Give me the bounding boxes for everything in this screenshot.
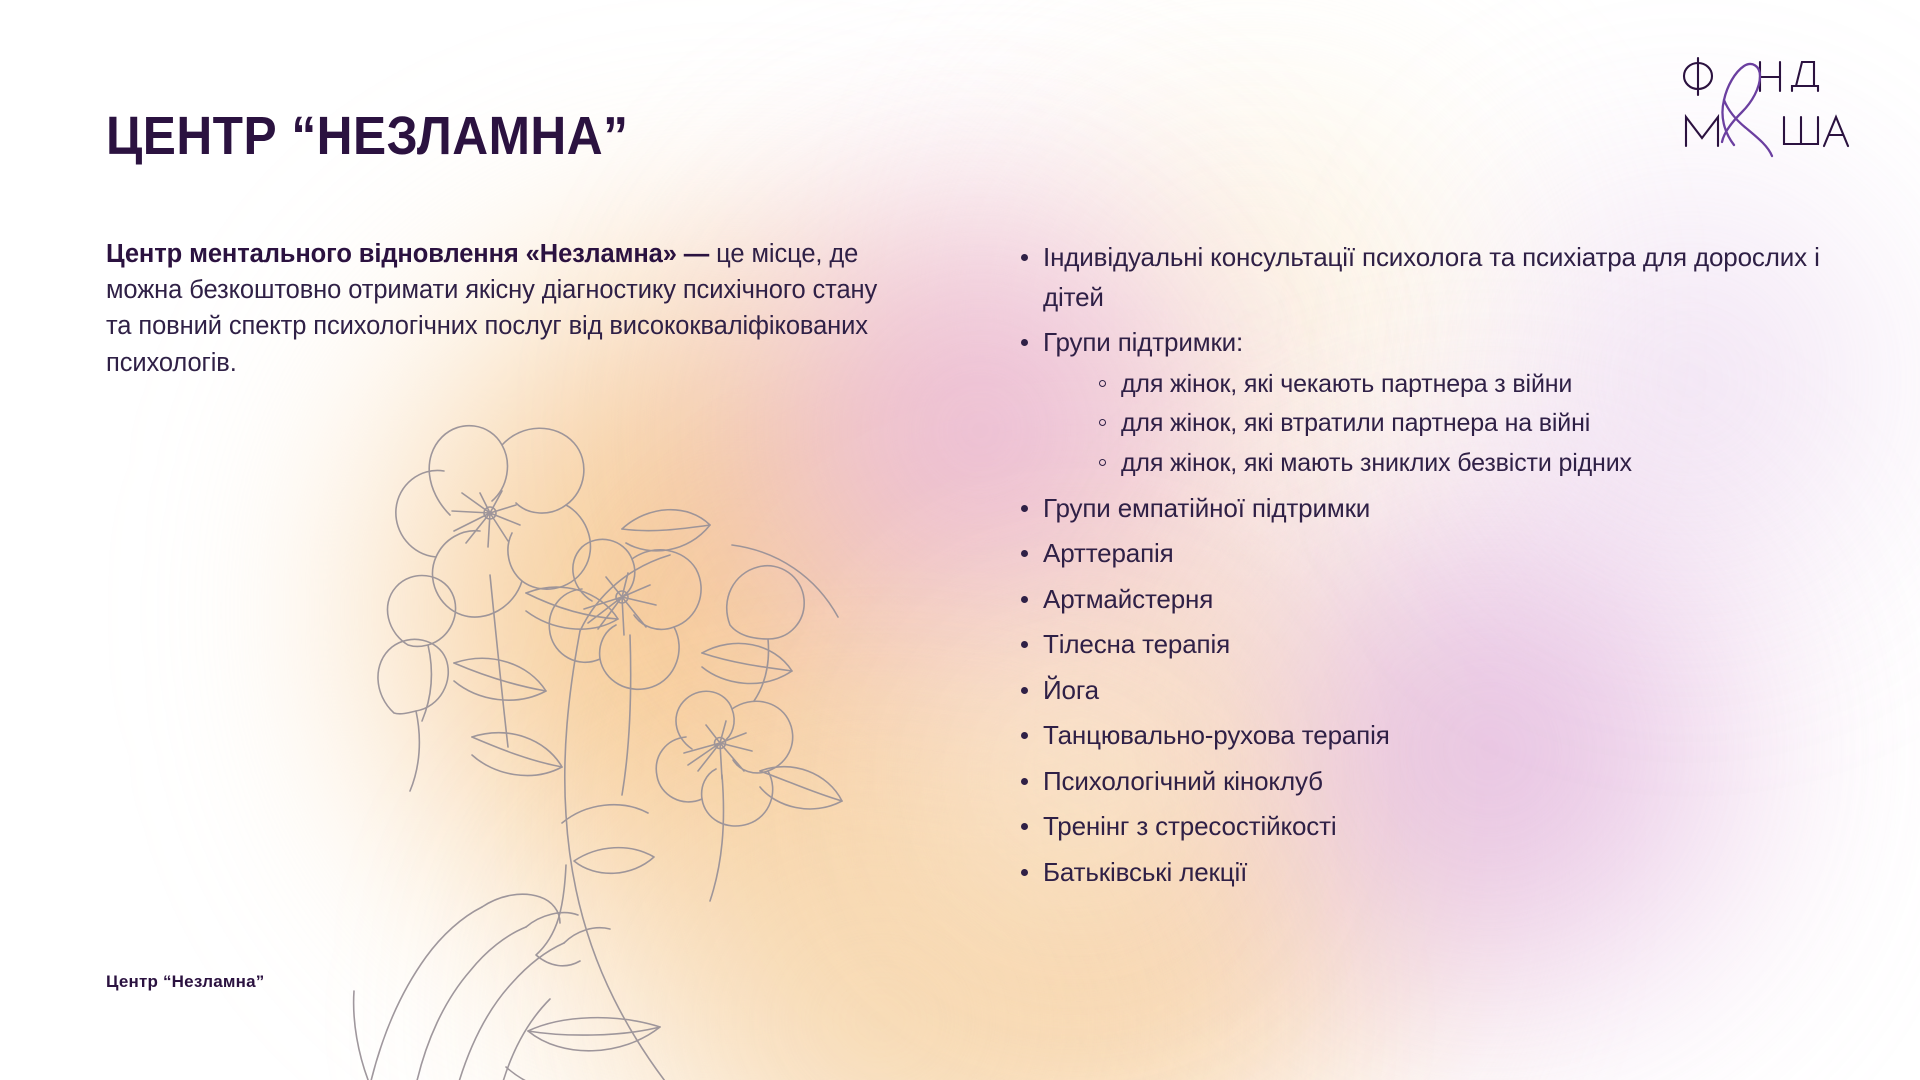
list-item-label: Тілесна терапія bbox=[1043, 629, 1230, 659]
list-item: Тренінг з стресостійкості bbox=[1015, 807, 1845, 847]
list-item: Артмайстерня bbox=[1015, 580, 1845, 620]
page-title: ЦЕНТР “НЕЗЛАМНА” bbox=[106, 108, 628, 165]
list-item: Індивідуальні консультації психолога та … bbox=[1015, 238, 1845, 317]
list-item-label: Арттерапія bbox=[1043, 538, 1174, 568]
list-item: Йога bbox=[1015, 671, 1845, 711]
list-item-label: Артмайстерня bbox=[1043, 584, 1213, 614]
support-groups-sublist: для жінок, які чекають партнера з війни … bbox=[1043, 365, 1845, 483]
sub-list-item: для жінок, які втратили партнера на війн… bbox=[1095, 404, 1845, 443]
list-item-label: Групи підтримки: bbox=[1043, 327, 1243, 357]
slide-root: ЦЕНТР “НЕЗЛАМНА” Центр ментального відно… bbox=[0, 0, 1920, 1080]
list-item-label: Батьківські лекції bbox=[1043, 857, 1247, 887]
list-item: Тілесна терапія bbox=[1015, 625, 1845, 665]
sub-list-item: для жінок, які мають зниклих безвісти рі… bbox=[1095, 444, 1845, 483]
list-item: Танцювально-рухова терапія bbox=[1015, 716, 1845, 756]
list-item: Батьківські лекції bbox=[1015, 853, 1845, 893]
intro-paragraph: Центр ментального відновлення «Незламна»… bbox=[106, 236, 896, 381]
list-item-label: Групи емпатійної підтримки bbox=[1043, 493, 1370, 523]
list-item-label: Йога bbox=[1043, 675, 1099, 705]
list-item-label: Індивідуальні консультації психолога та … bbox=[1043, 242, 1820, 312]
services-list: Індивідуальні консультації психолога та … bbox=[1015, 238, 1845, 898]
list-item-label: Тренінг з стресостійкості bbox=[1043, 811, 1337, 841]
sub-list-item-label: для жінок, які чекають партнера з війни bbox=[1121, 370, 1572, 398]
sub-list-item-label: для жінок, які мають зниклих безвісти рі… bbox=[1121, 449, 1632, 477]
sub-list-item: для жінок, які чекають партнера з війни bbox=[1095, 365, 1845, 404]
list-item-label: Психологічний кіноклуб bbox=[1043, 766, 1323, 796]
sub-list-item-label: для жінок, які втратили партнера на війн… bbox=[1121, 409, 1590, 437]
list-item: Арттерапія bbox=[1015, 534, 1845, 574]
list-item: Групи підтримки: для жінок, які чекають … bbox=[1015, 323, 1845, 483]
list-item: Психологічний кіноклуб bbox=[1015, 762, 1845, 802]
footer-label: Центр “Незламна” bbox=[106, 972, 265, 992]
woman-face-with-flowers-line-art bbox=[330, 395, 950, 1080]
list-item-label: Танцювально-рухова терапія bbox=[1043, 720, 1390, 750]
fond-masha-logo bbox=[1672, 48, 1858, 160]
intro-lead: Центр ментального відновлення «Незламна»… bbox=[106, 240, 709, 268]
list-item: Групи емпатійної підтримки bbox=[1015, 489, 1845, 529]
